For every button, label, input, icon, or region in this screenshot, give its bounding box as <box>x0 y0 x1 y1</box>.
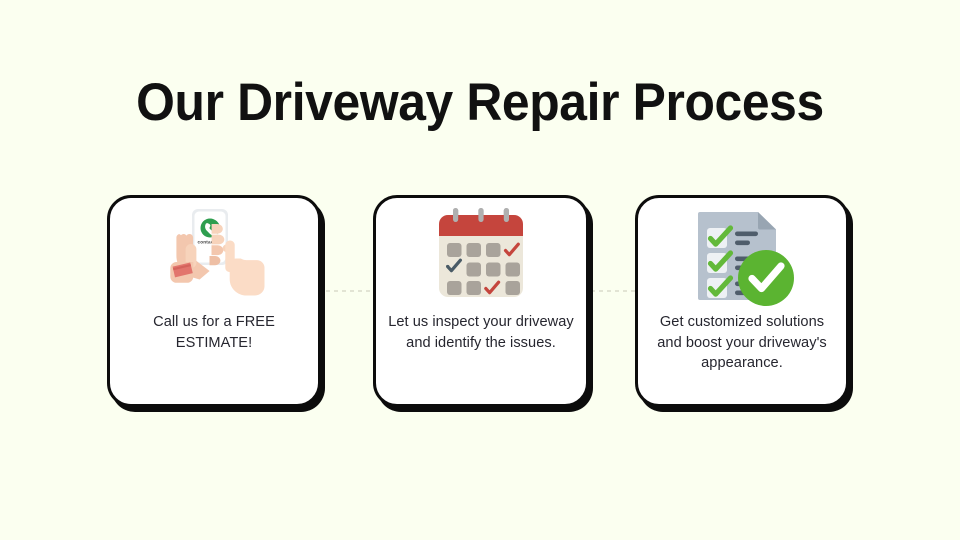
step-3-description: Get customized solutions and boost your … <box>648 312 836 374</box>
connector-step2-step3 <box>591 290 635 292</box>
hand-holding-phone-icon: contact us <box>110 206 318 306</box>
step-card-2[interactable]: Let us inspect your driveway and identif… <box>373 195 589 407</box>
step-1-description: Call us for a FREE ESTIMATE! <box>120 312 308 353</box>
connector-step1-step2 <box>326 290 374 292</box>
step-2-description: Let us inspect your driveway and identif… <box>386 312 576 353</box>
page-title: Our Driveway Repair Process <box>29 72 931 133</box>
step-card-3[interactable]: Get customized solutions and boost your … <box>635 195 849 407</box>
step-card-1[interactable]: contact us <box>107 195 321 407</box>
slide-root: Our Driveway Repair Process contact us <box>0 0 960 540</box>
checklist-approved-icon <box>638 206 846 306</box>
calendar-icon <box>376 206 586 306</box>
